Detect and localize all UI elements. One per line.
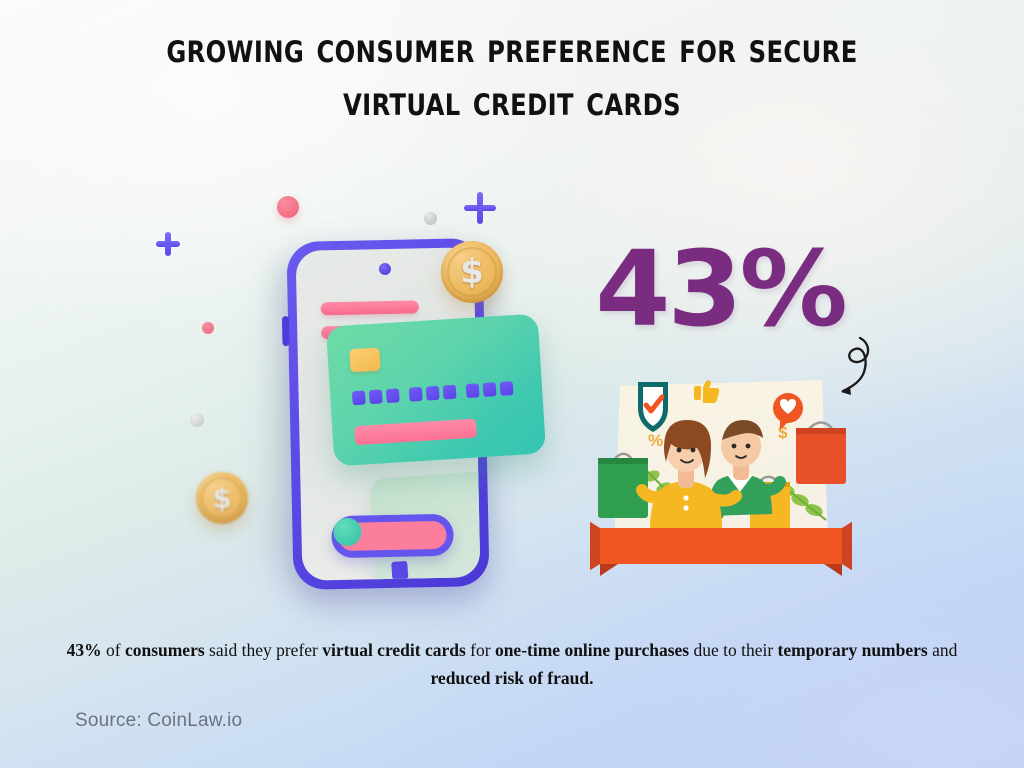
caption-seg-8: due to their [689, 640, 777, 660]
decor-plus-icon-top [464, 192, 496, 224]
screen-bar-primary [321, 300, 419, 315]
title-line-1: Growing Consumer Preference for Secure [36, 22, 988, 75]
card-number-group-1 [352, 388, 400, 405]
screen-toggle-switch[interactable] [331, 514, 454, 559]
caption-seg-9: temporary numbers [778, 640, 928, 660]
page-title: Growing Consumer Preference for Secure V… [0, 22, 1024, 128]
phone-volume-button [282, 316, 290, 346]
caption-seg-2: of [102, 640, 125, 660]
caption-seg-3: consumers [125, 640, 205, 660]
stat-percentage: 43% [595, 228, 845, 350]
caption-seg-11: reduced risk of fraud. [430, 668, 593, 688]
caption-seg-5: virtual credit cards [322, 640, 466, 660]
shopping-bag-orange [796, 422, 846, 484]
title-line-2: Virtual Credit Cards [36, 75, 988, 128]
caption-seg-7: one-time online purchases [495, 640, 689, 660]
card-number-group-2 [409, 385, 457, 402]
card-name-stripe [354, 419, 477, 446]
card-chip-icon [349, 347, 380, 372]
caption-seg-1: 43% [67, 640, 102, 660]
source-label: Source: CoinLaw.io [75, 710, 242, 732]
dollar-coin-small-icon: $ [196, 472, 248, 524]
decor-sphere-gray-left [190, 413, 204, 427]
card-back-block [391, 561, 408, 580]
credit-card-front [326, 313, 546, 466]
decor-plus-icon-left [156, 232, 180, 256]
caption-text: 43% of consumers said they prefer virtua… [62, 636, 962, 692]
dollar-coin-icon: $ [441, 241, 503, 303]
percent-symbol-icon: % [648, 431, 663, 450]
shoppers-illustration: % $ [590, 368, 852, 580]
caption-seg-6: for [466, 640, 495, 660]
decor-sphere-pink-large [277, 196, 299, 218]
infographic-canvas: Growing Consumer Preference for Secure V… [0, 0, 1024, 768]
phone-camera-dot [379, 263, 391, 275]
caption-seg-4: said they prefer [205, 640, 323, 660]
caption-seg-10: and [928, 640, 958, 660]
decor-sphere-pink-small [202, 322, 214, 334]
card-number-group-3 [466, 381, 514, 398]
decor-sphere-gray-top [424, 212, 437, 225]
